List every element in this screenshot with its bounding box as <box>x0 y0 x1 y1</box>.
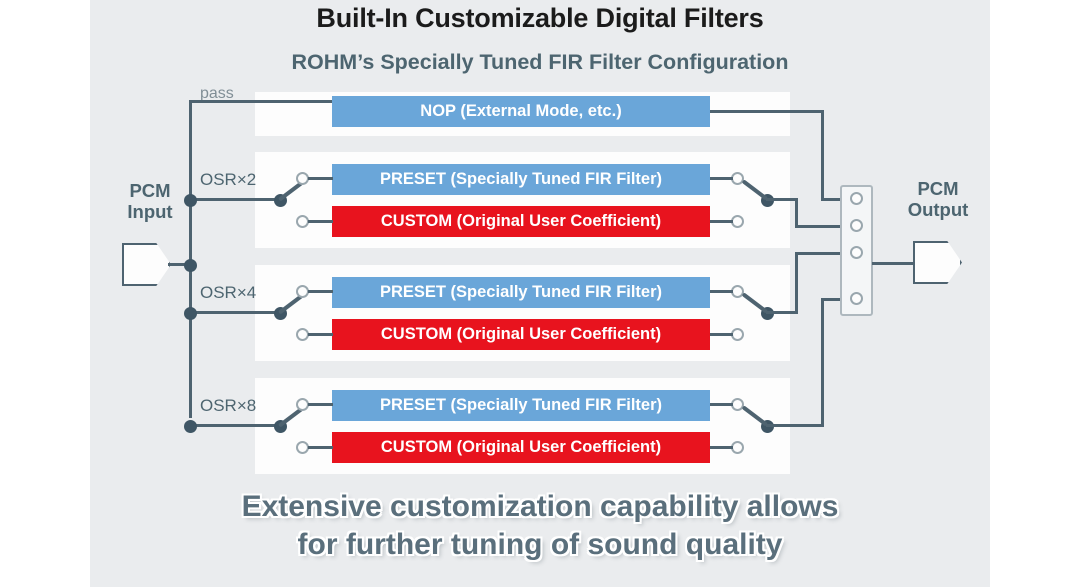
wire-osr8-preset-out <box>710 403 733 406</box>
junction-osr4 <box>184 307 197 320</box>
slide-root: Built-In Customizable Digital Filters RO… <box>0 0 1080 587</box>
footer-caption-line1: Extensive customization capability allow… <box>0 488 1080 526</box>
wire-bus-to-sw-osr4 <box>189 311 280 314</box>
mux-port-1[interactable] <box>850 192 863 205</box>
page-subtitle: ROHM’s Specially Tuned FIR Filter Config… <box>0 50 1080 75</box>
osr4-label: OSR×4 <box>200 283 256 303</box>
wire-osr2-custom-out <box>710 220 733 223</box>
footer-caption-line2: for further tuning of sound quality <box>0 526 1080 564</box>
wire-osr4-to-mux-h1 <box>766 311 798 314</box>
wire-bus-to-sw-osr2 <box>189 198 280 201</box>
wire-osr8-custom-in <box>308 446 333 449</box>
osr8-label: OSR×8 <box>200 396 256 416</box>
wire-nop-down <box>821 110 824 200</box>
osr8-custom-bar[interactable]: CUSTOM (Original User Coefficient) <box>332 432 710 463</box>
mux-port-2[interactable] <box>850 219 863 232</box>
wire-osr2-custom-in <box>308 220 333 223</box>
wire-osr2-to-mux-h1 <box>766 198 798 201</box>
wire-osr4-preset-in <box>308 290 333 293</box>
wire-nop-out <box>710 110 824 113</box>
osr2-custom-bar[interactable]: CUSTOM (Original User Coefficient) <box>332 206 710 237</box>
wire-osr2-preset-in <box>308 177 333 180</box>
wire-osr8-custom-out <box>710 446 733 449</box>
footer-caption: Extensive customization capability allow… <box>0 488 1080 564</box>
wire-bus-to-sw-osr8 <box>189 424 280 427</box>
junction-input <box>184 259 197 272</box>
pcm-input-label: PCM Input <box>118 180 182 222</box>
wire-osr2-to-mux-v <box>795 198 798 228</box>
junction-osr2 <box>184 194 197 207</box>
osr2-preset-bar[interactable]: PRESET (Specially Tuned FIR Filter) <box>332 164 710 195</box>
wire-osr4-custom-out <box>710 333 733 336</box>
mux-port-4[interactable] <box>850 292 863 305</box>
osr4-preset-bar[interactable]: PRESET (Specially Tuned FIR Filter) <box>332 277 710 308</box>
mux-port-3[interactable] <box>850 246 863 259</box>
wire-osr4-to-mux-v <box>795 252 798 314</box>
osr2-label: OSR×2 <box>200 170 256 190</box>
wire-osr4-preset-out <box>710 290 733 293</box>
page-title: Built-In Customizable Digital Filters <box>0 3 1080 34</box>
wire-osr4-custom-in <box>308 333 333 336</box>
junction-osr8 <box>184 420 197 433</box>
wire-osr8-preset-in <box>308 403 333 406</box>
pcm-output-label: PCM Output <box>893 178 983 220</box>
osr8-preset-bar[interactable]: PRESET (Specially Tuned FIR Filter) <box>332 390 710 421</box>
osr4-custom-bar[interactable]: CUSTOM (Original User Coefficient) <box>332 319 710 350</box>
wire-osr8-to-mux-h1 <box>766 424 824 427</box>
wire-mux-to-output <box>872 262 917 265</box>
wire-osr8-to-mux-v <box>821 298 824 426</box>
nop-bar[interactable]: NOP (External Mode, etc.) <box>332 96 710 127</box>
wire-osr2-preset-out <box>710 177 733 180</box>
wire-pass-to-nop <box>189 100 334 103</box>
